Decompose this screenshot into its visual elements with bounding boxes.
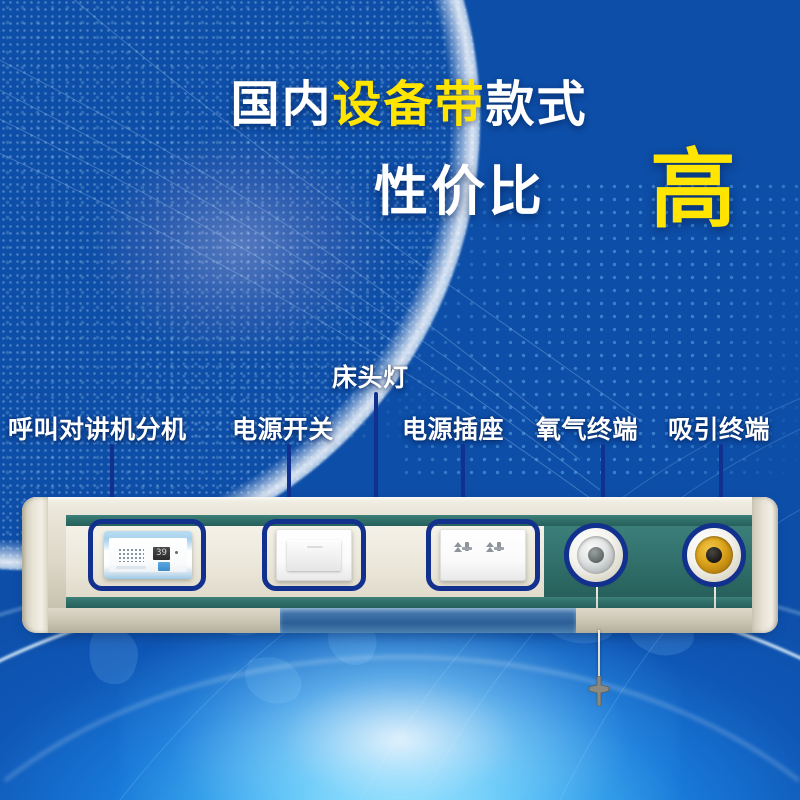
bed-lamp-diffuser [280,608,576,633]
panel-end-cap-right [752,497,778,633]
highlight-frame-power-switch [262,519,366,591]
poster-canvas: 国内设备带款式 性价比 高 呼叫对讲机分机 电源开关 床头灯 电源插座 氧气终端… [0,0,800,800]
pull-cord-handle-icon[interactable] [586,676,612,706]
medical-bedhead-panel: 39 [22,497,778,637]
highlight-circle-suction [682,523,746,587]
callout-label-bed-lamp: 床头灯 [332,358,409,394]
highlight-circle-oxygen [564,523,628,587]
headline-line-1: 国内设备带款式 [0,80,800,129]
callout-label-suction: 吸引终端 [668,410,770,446]
headline-segment-yellow: 设备带 [332,76,485,133]
callout-label-power-socket: 电源插座 [402,410,504,446]
panel-end-cap-left [22,497,48,633]
highlight-frame-intercom [88,519,206,591]
headline-segment-white-2: 款式 [486,76,588,133]
highlight-frame-power-socket [426,519,540,591]
panel-stripe-bottom [66,597,752,608]
callout-label-power-switch: 电源开关 [232,410,334,446]
callout-label-oxygen: 氧气终端 [536,410,638,446]
headline-line-2: 性价比 [374,165,545,219]
callout-label-intercom: 呼叫对讲机分机 [8,410,187,446]
headline-block: 国内设备带款式 性价比 高 [0,80,800,129]
headline-segment-white-1: 国内 [230,76,332,133]
headline-emphasis-char: 高 [650,147,736,233]
